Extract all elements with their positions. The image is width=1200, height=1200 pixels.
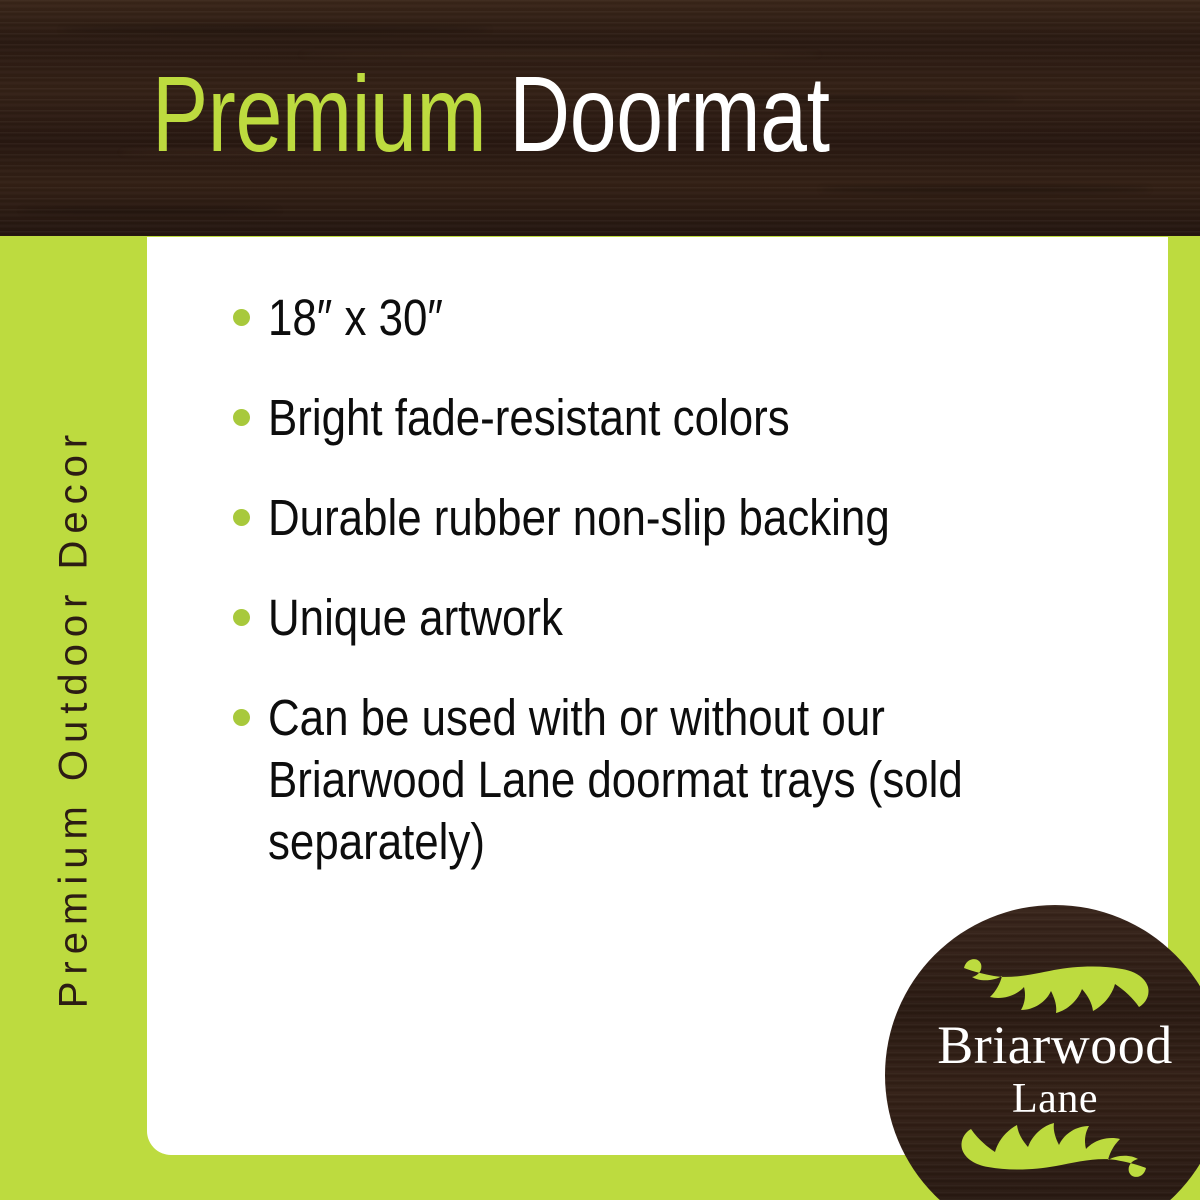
list-item: Bright fade-resistant colors (233, 387, 1113, 449)
wood-grain-streak (20, 208, 280, 213)
sidebar-category-band: Premium Outdoor Decor (0, 236, 147, 1200)
bullet-dot-icon (233, 609, 250, 626)
list-item: 18″ x 30″ (233, 287, 1113, 349)
brand-name-line1: Briarwood (885, 1015, 1200, 1075)
list-item-label: Can be used with or without our Briarwoo… (268, 687, 995, 873)
list-item: Unique artwork (233, 587, 1113, 649)
brand-name-line2: Lane (885, 1075, 1200, 1123)
wood-grain-streak (820, 186, 1150, 193)
feature-list: 18″ x 30″ Bright fade-resistant colors D… (233, 287, 1113, 911)
sidebar-category-label: Premium Outdoor Decor (51, 428, 96, 1008)
list-item-label: Unique artwork (268, 587, 995, 649)
leaf-icon (950, 1120, 1160, 1186)
list-item-label: Durable rubber non-slip backing (268, 487, 995, 549)
bullet-dot-icon (233, 709, 250, 726)
product-feature-infographic: Premium Doormat Premium Outdoor Decor 18… (0, 0, 1200, 1200)
page-title-product: Doormat (486, 53, 829, 174)
page-title-emphasis: Premium (152, 53, 486, 174)
list-item: Durable rubber non-slip backing (233, 487, 1113, 549)
bullet-dot-icon (233, 509, 250, 526)
bullet-dot-icon (233, 409, 250, 426)
bullet-dot-icon (233, 309, 250, 326)
leaf-icon (950, 950, 1160, 1016)
brand-name: Briarwood Lane (885, 1015, 1200, 1123)
wood-grain-streak (60, 26, 490, 33)
header-wood-banner: Premium Doormat (0, 0, 1200, 236)
page-title: Premium Doormat (152, 58, 830, 170)
list-item-label: 18″ x 30″ (268, 287, 995, 349)
list-item-label: Bright fade-resistant colors (268, 387, 995, 449)
list-item: Can be used with or without our Briarwoo… (233, 687, 1113, 873)
